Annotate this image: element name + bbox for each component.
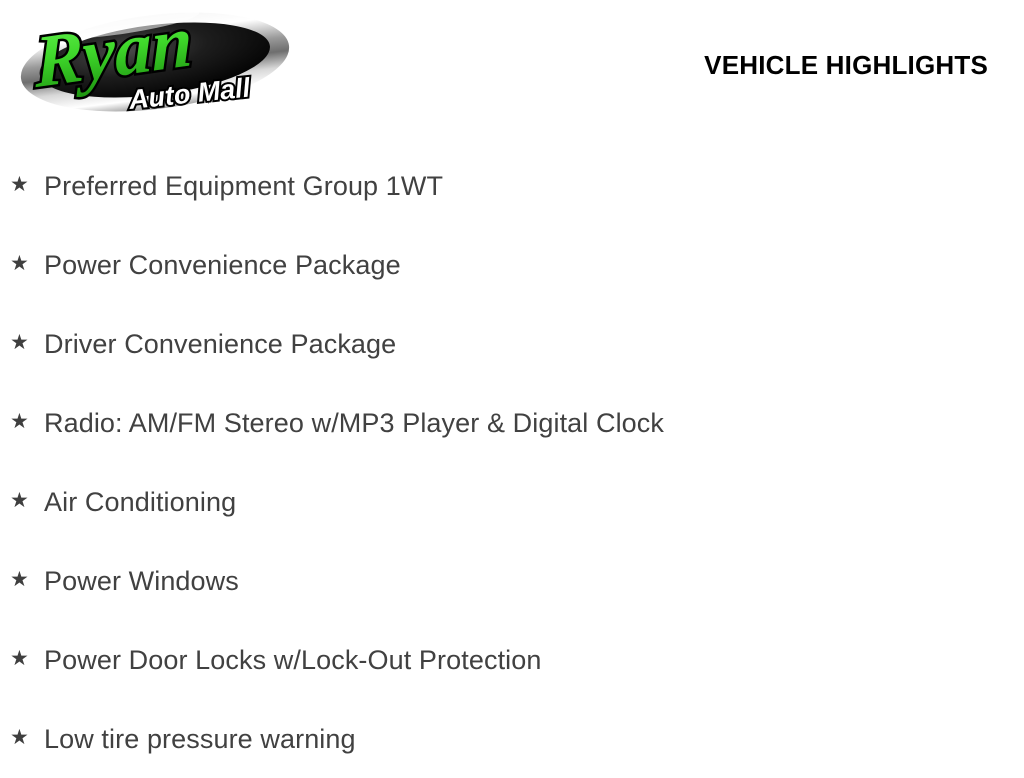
highlight-item: ★ Power Windows (0, 541, 1024, 620)
highlight-item: ★ Driver Convenience Package (0, 304, 1024, 383)
highlight-label: Air Conditioning (44, 476, 236, 528)
highlight-item: ★ Radio: AM/FM Stereo w/MP3 Player & Dig… (0, 383, 1024, 462)
highlight-label: Preferred Equipment Group 1WT (44, 160, 443, 212)
highlight-item: ★ Air Conditioning (0, 462, 1024, 541)
highlight-label: Driver Convenience Package (44, 318, 396, 370)
highlight-item: ★ Preferred Equipment Group 1WT (0, 146, 1024, 225)
highlight-label: Power Windows (44, 555, 239, 607)
highlight-label: Power Door Locks w/Lock-Out Protection (44, 634, 542, 686)
star-icon: ★ (10, 648, 44, 669)
logo-graphic: Ryan Auto Mall (18, 6, 292, 118)
vehicle-highlights-page: Ryan Auto Mall VEHICLE HIGHLIGHTS ★ Pref… (0, 0, 1024, 768)
star-icon: ★ (10, 332, 44, 353)
star-icon: ★ (10, 253, 44, 274)
star-icon: ★ (10, 727, 44, 748)
star-icon: ★ (10, 174, 44, 195)
page-header: Ryan Auto Mall VEHICLE HIGHLIGHTS (0, 0, 1024, 130)
highlight-label: Low tire pressure warning (44, 713, 356, 765)
highlight-item: ★ Low tire pressure warning (0, 699, 1024, 778)
highlight-item: ★ Power Convenience Package (0, 225, 1024, 304)
highlight-item: ★ Power Door Locks w/Lock-Out Protection (0, 620, 1024, 699)
star-icon: ★ (10, 569, 44, 590)
star-icon: ★ (10, 411, 44, 432)
star-icon: ★ (10, 490, 44, 511)
highlight-label: Power Convenience Package (44, 239, 401, 291)
page-title: VEHICLE HIGHLIGHTS (704, 50, 988, 81)
ryan-auto-mall-logo: Ryan Auto Mall (18, 6, 292, 118)
vehicle-highlights-list: ★ Preferred Equipment Group 1WT ★ Power … (0, 146, 1024, 778)
highlight-label: Radio: AM/FM Stereo w/MP3 Player & Digit… (44, 397, 664, 449)
